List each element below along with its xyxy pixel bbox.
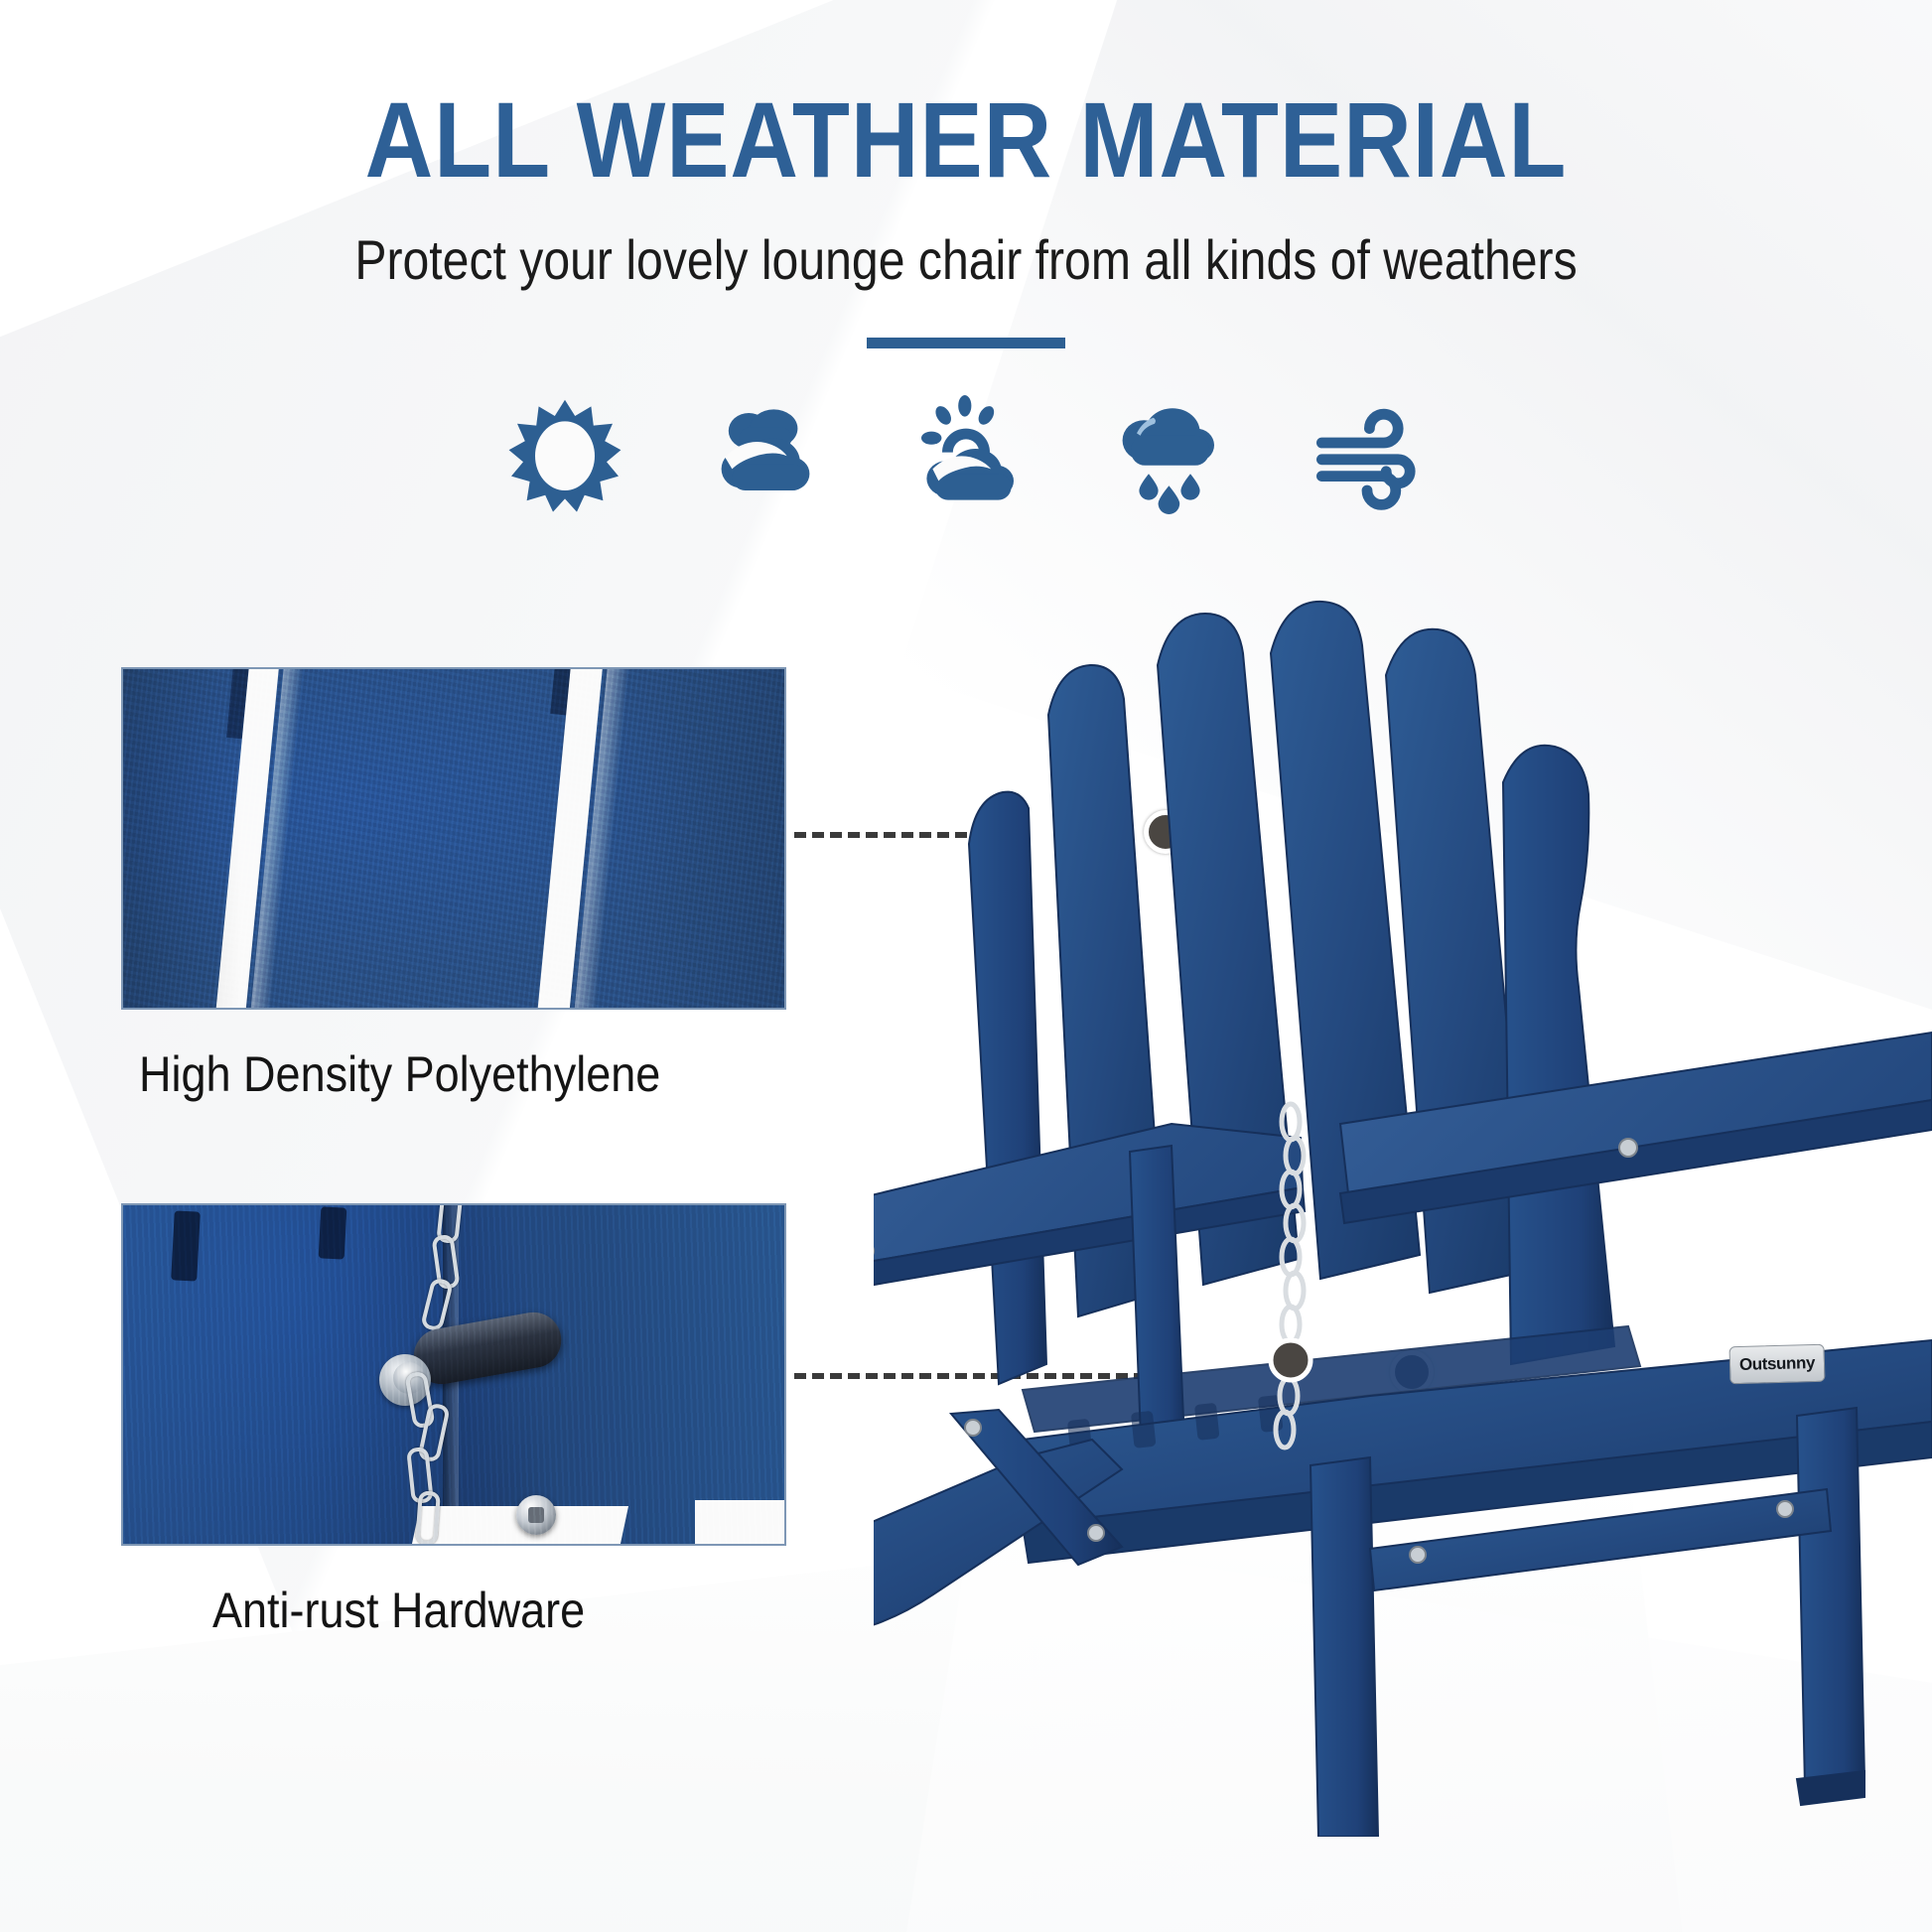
header: ALL WEATHER MATERIAL Protect your lovely… <box>0 0 1932 348</box>
cloudy-icon <box>701 395 830 514</box>
hdpe-slats-photo <box>123 669 784 1008</box>
page-title: ALL WEATHER MATERIAL <box>116 77 1816 202</box>
brand-label-outsunny: Outsunny <box>1729 1344 1826 1385</box>
callout-hardware: Anti-rust Hardware <box>121 1203 786 1639</box>
callout-hdpe-caption: High Density Polyethylene <box>139 1045 722 1103</box>
sun-icon <box>500 395 629 514</box>
callout-hardware-photo <box>121 1203 786 1546</box>
rain-cloud-icon <box>1102 395 1231 514</box>
page-subtitle: Protect your lovely lounge chair from al… <box>135 227 1797 292</box>
weather-icon-row <box>0 395 1932 514</box>
callout-hdpe-photo <box>121 667 786 1010</box>
product-image-adirondack-chair <box>874 516 1932 1837</box>
title-divider <box>867 338 1065 348</box>
partly-sunny-icon <box>901 395 1031 514</box>
wind-icon <box>1303 395 1432 514</box>
callout-hdpe: High Density Polyethylene <box>121 667 786 1103</box>
promo-banner: ALL WEATHER MATERIAL Protect your lovely… <box>0 0 1932 1932</box>
callout-hardware-caption: Anti-rust Hardware <box>212 1582 729 1639</box>
anti-rust-hardware-photo <box>123 1205 784 1544</box>
